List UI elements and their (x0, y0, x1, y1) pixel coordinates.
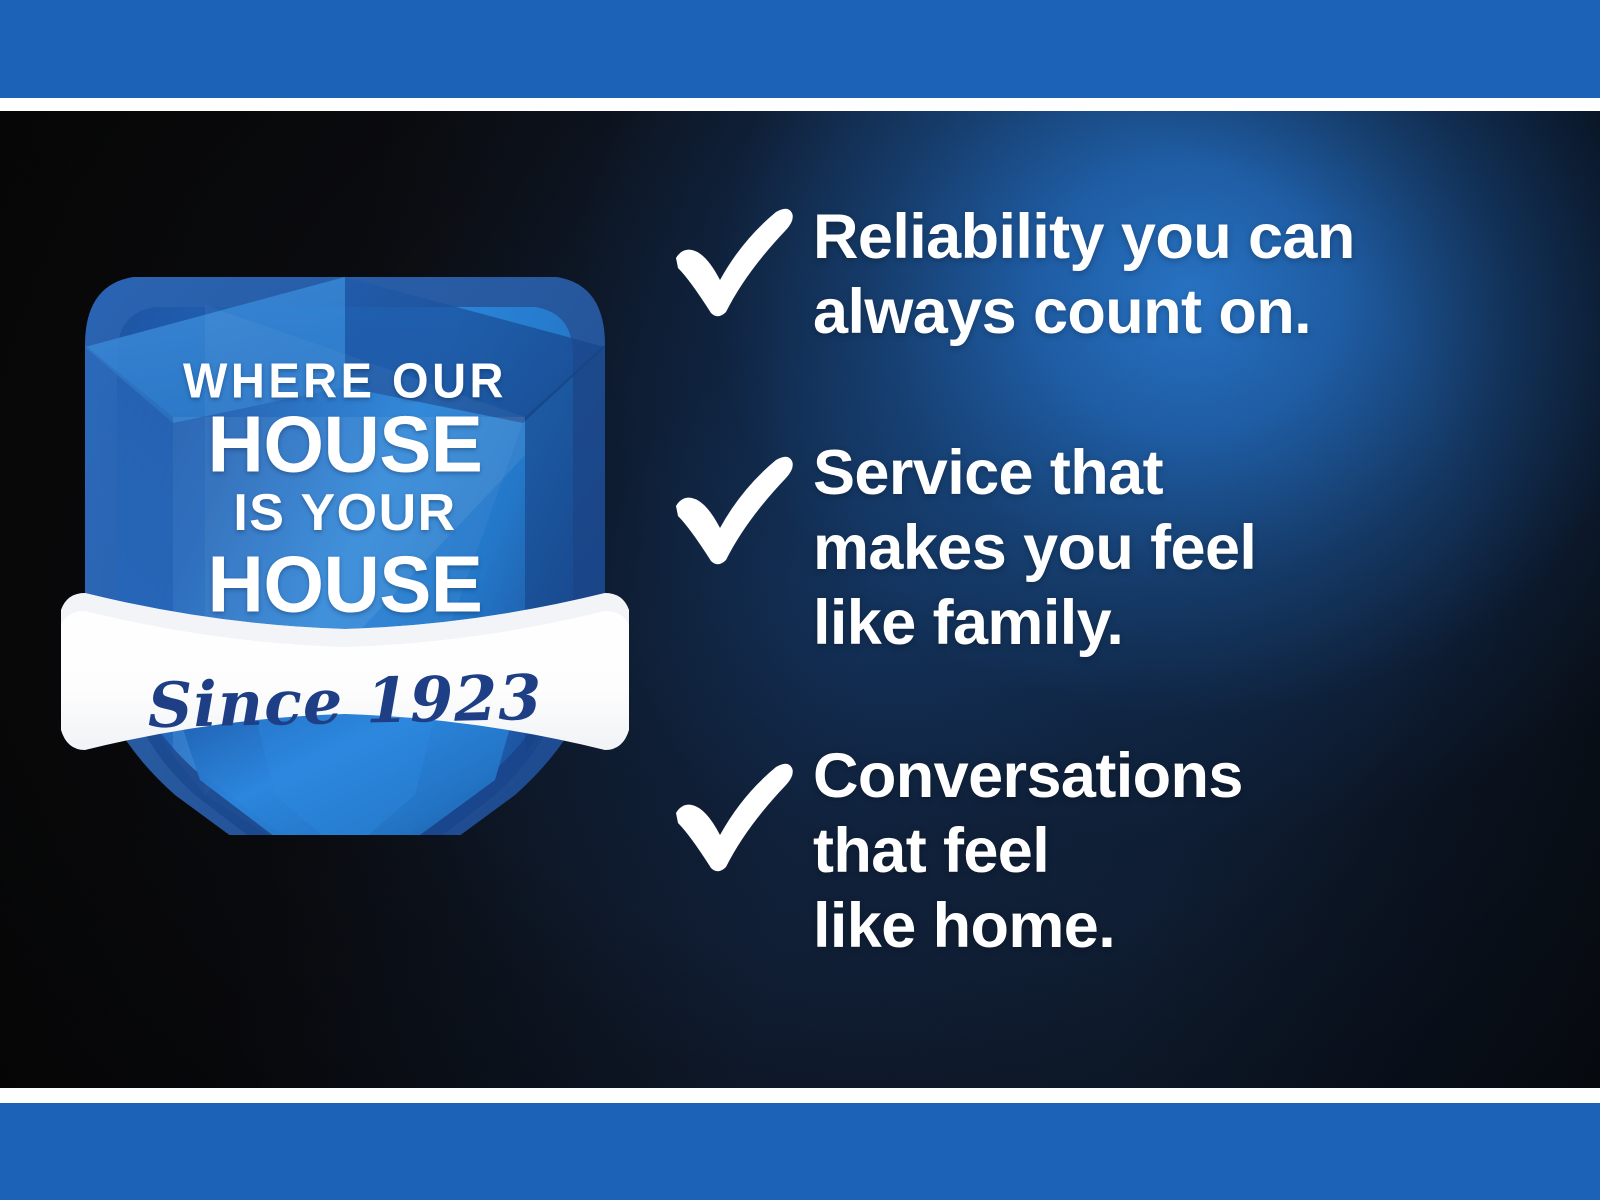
bottom-white-divider (0, 1088, 1600, 1103)
logo-since-year: Since 1923 (54, 659, 635, 744)
list-item-label: Conversations that feel like home. (813, 739, 1548, 964)
logo-line-2: HOUSE (55, 398, 635, 491)
bottom-brand-bar (0, 1103, 1600, 1200)
list-item: Reliability you can always count on. (668, 200, 1548, 350)
promo-poster: WHERE OUR HOUSE IS YOUR HOUSE Since 1923… (0, 0, 1600, 1200)
brand-shield-logo: WHERE OUR HOUSE IS YOUR HOUSE Since 1923 (55, 155, 635, 835)
checkmark-icon (668, 739, 813, 873)
benefits-list: Reliability you can always count on. Ser… (668, 200, 1548, 964)
logo-line-4: HOUSE (55, 538, 635, 631)
checkmark-icon (668, 436, 813, 566)
list-item-label: Service that makes you feel like family. (813, 436, 1548, 661)
list-item: Conversations that feel like home. (668, 739, 1548, 964)
checkmark-icon (668, 200, 813, 318)
logo-line-3: IS YOUR (55, 483, 635, 543)
top-brand-bar (0, 0, 1600, 98)
list-item-label: Reliability you can always count on. (813, 200, 1548, 350)
top-white-divider (0, 98, 1600, 111)
list-item: Service that makes you feel like family. (668, 436, 1548, 661)
